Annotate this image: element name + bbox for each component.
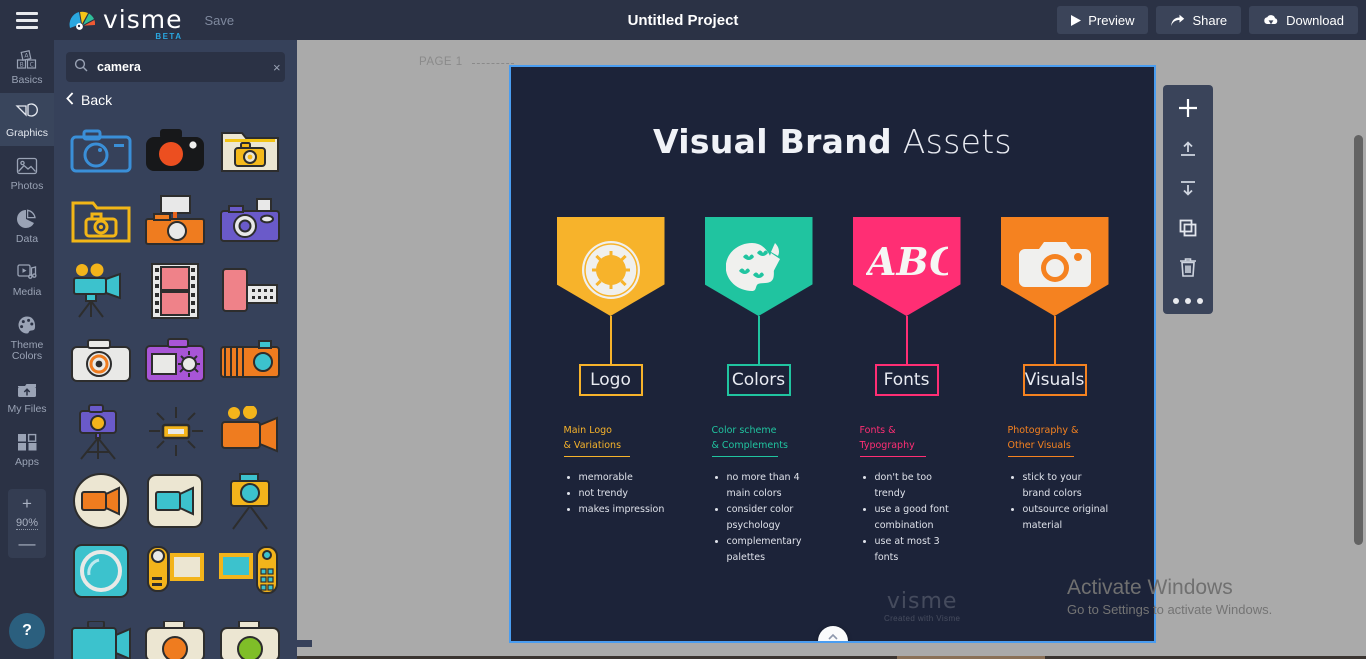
slide-columns: Logo Main Logo & Variations memorable no… bbox=[511, 217, 1154, 566]
graphic-camera-orange-flash[interactable] bbox=[141, 190, 209, 252]
graphics-panel: × Back bbox=[54, 40, 297, 659]
svg-text:ABC: ABC bbox=[866, 239, 948, 284]
sidebar-item-label: Theme Colors bbox=[0, 340, 54, 362]
vertical-scrollbar[interactable] bbox=[1354, 135, 1363, 545]
sidebar-item-label: Photos bbox=[11, 181, 44, 192]
video-note-icon bbox=[15, 261, 39, 283]
save-button[interactable]: Save bbox=[205, 13, 235, 28]
subtitle-line-2: & Complements bbox=[712, 438, 813, 453]
left-rail: B C A Basics Graphics bbox=[0, 40, 54, 659]
visme-logo-mark bbox=[68, 8, 98, 32]
bullets-fonts: don't be too trendy use a good font comb… bbox=[853, 470, 961, 566]
graphic-camera-teal-square[interactable] bbox=[67, 540, 135, 602]
badge-logo bbox=[557, 217, 665, 316]
subtitle-line-2: & Variations bbox=[564, 438, 665, 453]
sidebar-item-my-files[interactable]: My Files bbox=[0, 369, 54, 422]
sidebar-item-media[interactable]: Media bbox=[0, 252, 54, 305]
sidebar-item-data[interactable]: Data bbox=[0, 199, 54, 252]
preview-button-label: Preview bbox=[1088, 13, 1134, 28]
graphic-camcorder-yellow-film[interactable] bbox=[216, 540, 284, 602]
slide-column-visuals[interactable]: Visuals Photography & Other Visuals stic… bbox=[1001, 217, 1109, 566]
subtitle-fonts: Fonts & Typography bbox=[853, 423, 961, 457]
vertical-resize-handle[interactable] bbox=[818, 626, 848, 643]
chip-fonts: Fonts bbox=[875, 364, 939, 396]
top-bar: visme BETA Save Untitled Project Preview… bbox=[0, 0, 1366, 40]
sun-badge-icon bbox=[580, 239, 642, 306]
sidebar-item-apps[interactable]: Apps bbox=[0, 422, 54, 475]
visme-watermark: visme Created with Visme bbox=[884, 589, 960, 623]
more-options-button[interactable] bbox=[1173, 293, 1203, 304]
badge-visuals bbox=[1001, 217, 1109, 316]
bullets-visuals: stick to your brand colors outsource ori… bbox=[1001, 470, 1109, 534]
zoom-out-button[interactable]: — bbox=[19, 535, 36, 552]
graphic-film-roll-pink[interactable] bbox=[216, 260, 284, 322]
list-item: stick to your brand colors bbox=[1023, 470, 1109, 502]
svg-text:B: B bbox=[20, 61, 24, 68]
hamburger-icon[interactable] bbox=[0, 0, 54, 40]
add-slide-button[interactable] bbox=[1169, 93, 1207, 127]
list-item: makes impression bbox=[579, 502, 665, 518]
ellipsis-icon bbox=[1173, 298, 1179, 304]
search-icon bbox=[74, 58, 88, 77]
page-label-connector bbox=[472, 63, 514, 64]
shapes-icon bbox=[15, 102, 39, 124]
search-row: × bbox=[54, 40, 297, 82]
help-button[interactable]: ? bbox=[9, 613, 45, 649]
chevron-left-icon bbox=[66, 92, 74, 108]
watermark-subtitle: Created with Visme bbox=[884, 614, 960, 623]
subtitle-rule bbox=[564, 456, 630, 457]
blocks-icon: B C A bbox=[15, 49, 39, 71]
visme-editor: visme BETA Save Untitled Project Preview… bbox=[0, 0, 1366, 659]
graphic-camera-purple-screen[interactable] bbox=[141, 330, 209, 392]
graphic-video-camera-orange[interactable] bbox=[216, 400, 284, 462]
slide-title-bold: Visual Brand bbox=[653, 122, 892, 161]
top-actions: Preview Share Download bbox=[1057, 0, 1358, 40]
search-box[interactable]: × bbox=[66, 52, 285, 82]
move-up-button[interactable] bbox=[1169, 133, 1207, 167]
slide-title: Visual Brand Assets bbox=[511, 122, 1154, 161]
arrow-up-bar-icon bbox=[1178, 138, 1198, 163]
graphic-camera-white-retro[interactable] bbox=[67, 330, 135, 392]
connector-stem-logo bbox=[610, 316, 612, 364]
sidebar-item-basics[interactable]: B C A Basics bbox=[0, 40, 54, 93]
graphic-camera-purple-retro[interactable] bbox=[216, 190, 284, 252]
list-item: no more than 4 main colors bbox=[727, 470, 813, 502]
graphic-folder-camera-yellow[interactable] bbox=[67, 190, 135, 252]
zoom-level-value[interactable]: 90% bbox=[16, 517, 38, 530]
page-number-label: PAGE 1 bbox=[419, 56, 463, 68]
share-button-label: Share bbox=[1192, 13, 1227, 28]
graphic-film-strip-pink[interactable] bbox=[141, 260, 209, 322]
slide-title-light: Assets bbox=[903, 122, 1012, 161]
image-icon bbox=[15, 155, 39, 177]
subtitle-line-1: Fonts & bbox=[860, 423, 961, 438]
palette-icon bbox=[15, 314, 39, 336]
sidebar-item-photos[interactable]: Photos bbox=[0, 146, 54, 199]
sidebar-item-label: Data bbox=[16, 234, 38, 245]
download-button[interactable]: Download bbox=[1249, 6, 1358, 34]
abc-letters-icon: ABC bbox=[866, 239, 948, 292]
plus-icon bbox=[1177, 97, 1199, 124]
graphics-results-grid bbox=[54, 114, 297, 659]
zoom-control: + 90% — bbox=[8, 489, 46, 558]
graphic-camera-outline-blue[interactable] bbox=[67, 120, 135, 182]
visme-logo[interactable]: visme BETA bbox=[68, 8, 183, 32]
graphic-camera-orange-wide[interactable] bbox=[216, 330, 284, 392]
slide-column-fonts[interactable]: ABC Fonts Fonts & Typography don't be to… bbox=[853, 217, 961, 566]
graphic-folder-camera-cream[interactable] bbox=[216, 120, 284, 182]
copy-icon bbox=[1178, 218, 1198, 243]
arrow-down-bar-icon bbox=[1178, 178, 1198, 203]
svg-text:C: C bbox=[30, 61, 34, 68]
delete-button[interactable] bbox=[1169, 253, 1207, 287]
download-button-label: Download bbox=[1286, 13, 1344, 28]
graphic-camera-dslr-black[interactable] bbox=[141, 120, 209, 182]
sidebar-item-label: Graphics bbox=[6, 128, 48, 139]
move-down-button[interactable] bbox=[1169, 173, 1207, 207]
sidebar-item-label: Media bbox=[13, 287, 42, 298]
badge-fonts: ABC bbox=[853, 217, 961, 316]
sidebar-item-theme-colors[interactable]: Theme Colors bbox=[0, 305, 54, 369]
subtitle-line-2: Other Visuals bbox=[1008, 438, 1109, 453]
subtitle-line-2: Typography bbox=[860, 438, 961, 453]
back-button-label: Back bbox=[81, 92, 112, 108]
subtitle-rule bbox=[1008, 456, 1074, 457]
list-item: complementary palettes bbox=[727, 534, 813, 566]
graphic-video-camera-square-teal[interactable] bbox=[141, 470, 209, 532]
chip-logo: Logo bbox=[579, 364, 643, 396]
chip-colors: Colors bbox=[727, 364, 791, 396]
palette-brush-icon bbox=[726, 239, 792, 304]
subtitle-visuals: Photography & Other Visuals bbox=[1001, 423, 1109, 457]
list-item: not trendy bbox=[579, 486, 665, 502]
list-item: consider color psychology bbox=[727, 502, 813, 534]
slide-canvas[interactable]: Visual Brand Assets bbox=[509, 65, 1156, 643]
subtitle-logo: Main Logo & Variations bbox=[557, 423, 665, 457]
list-item: use a good font combination bbox=[875, 502, 961, 534]
canvas-workspace[interactable]: PAGE 1 Visual Brand Assets bbox=[297, 40, 1366, 659]
ellipsis-dot bbox=[1185, 298, 1191, 304]
subtitle-colors: Color scheme & Complements bbox=[705, 423, 813, 457]
subtitle-line-1: Main Logo bbox=[564, 423, 665, 438]
list-item: don't be too trendy bbox=[875, 470, 961, 502]
ellipsis-dot bbox=[1197, 298, 1203, 304]
chip-visuals: Visuals bbox=[1023, 364, 1087, 396]
logo-wordmark: visme bbox=[103, 8, 183, 32]
clear-search-icon[interactable]: × bbox=[271, 60, 283, 75]
sidebar-item-label: My Files bbox=[7, 404, 46, 415]
cloud-download-icon bbox=[1263, 14, 1279, 27]
list-item: use at most 3 fonts bbox=[875, 534, 961, 566]
sidebar-item-label: Basics bbox=[12, 75, 43, 86]
graphic-camera-cream-green-lens[interactable] bbox=[216, 610, 284, 659]
subtitle-rule bbox=[712, 456, 778, 457]
subtitle-rule bbox=[860, 456, 926, 457]
subtitle-line-1: Photography & bbox=[1008, 423, 1109, 438]
connector-stem-visuals bbox=[1054, 316, 1056, 364]
back-button[interactable]: Back bbox=[54, 82, 297, 114]
duplicate-button[interactable] bbox=[1169, 213, 1207, 247]
graphic-camera-tripod-purple[interactable] bbox=[67, 400, 135, 462]
upload-folder-icon bbox=[15, 378, 39, 400]
slide-column-logo[interactable]: Logo Main Logo & Variations memorable no… bbox=[557, 217, 665, 566]
play-icon bbox=[1071, 15, 1081, 26]
share-button[interactable]: Share bbox=[1156, 6, 1241, 34]
graphic-briefcase-camera-teal[interactable] bbox=[67, 610, 135, 659]
search-input[interactable] bbox=[88, 60, 271, 74]
camera-icon bbox=[1019, 239, 1091, 298]
connector-stem-fonts bbox=[906, 316, 908, 364]
sidebar-item-graphics[interactable]: Graphics bbox=[0, 93, 54, 146]
bullets-logo: memorable not trendy makes impression bbox=[557, 470, 665, 518]
watermark-logo: visme bbox=[884, 589, 960, 614]
grid-squares-icon bbox=[15, 431, 39, 453]
graphic-video-camera-circle-orange[interactable] bbox=[67, 470, 135, 532]
zoom-in-button[interactable]: + bbox=[22, 495, 32, 512]
bullets-colors: no more than 4 main colors consider colo… bbox=[705, 470, 813, 566]
graphic-camera-cream-orange-lens[interactable] bbox=[141, 610, 209, 659]
trash-icon bbox=[1178, 257, 1198, 283]
sidebar-item-label: Apps bbox=[15, 457, 39, 468]
list-item: outsource original material bbox=[1023, 502, 1109, 534]
graphic-camcorder-tripod-teal[interactable] bbox=[67, 260, 135, 322]
list-item: memorable bbox=[579, 470, 665, 486]
share-arrow-icon bbox=[1170, 14, 1185, 27]
preview-button[interactable]: Preview bbox=[1057, 6, 1148, 34]
graphic-camera-tripod-yellow[interactable] bbox=[216, 470, 284, 532]
slide-column-colors[interactable]: Colors Color scheme & Complements no mor… bbox=[705, 217, 813, 566]
connector-stem-colors bbox=[758, 316, 760, 364]
pie-chart-icon bbox=[15, 208, 39, 230]
subtitle-line-1: Color scheme bbox=[712, 423, 813, 438]
panel-collapse-tab[interactable] bbox=[297, 640, 312, 647]
slide-toolbar bbox=[1163, 85, 1213, 314]
badge-colors bbox=[705, 217, 813, 316]
graphic-flash-light-yellow[interactable] bbox=[141, 400, 209, 462]
graphic-camcorder-yellow-frame[interactable] bbox=[141, 540, 209, 602]
